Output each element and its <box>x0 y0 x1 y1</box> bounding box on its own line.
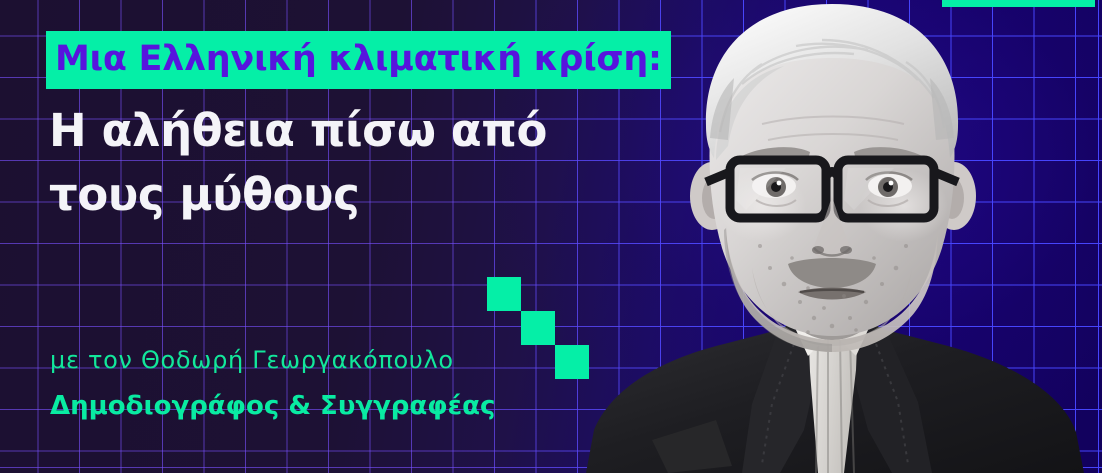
text-content-block: Μια Ελληνική κλιματική κρίση: Η αλήθεια … <box>46 0 816 473</box>
headline-line-2: τους μύθους <box>49 163 749 227</box>
eyebrow-row: Μια Ελληνική κλιματική κρίση: <box>46 31 671 89</box>
speaker-byline: με τον Θοδωρή Γεωργακόπουλο <box>50 347 454 373</box>
headline-line-1: Η αλήθεια πίσω από <box>49 99 749 163</box>
speaker-role: Δημοδιογράφος & Συγγραφέας <box>50 392 495 421</box>
eyebrow-title: Μια Ελληνική κλιματική κρίση: <box>46 31 671 89</box>
page-title: Η αλήθεια πίσω από τους μύθους <box>49 99 749 228</box>
poster-canvas: Μια Ελληνική κλιματική κρίση: Η αλήθεια … <box>0 0 1102 473</box>
